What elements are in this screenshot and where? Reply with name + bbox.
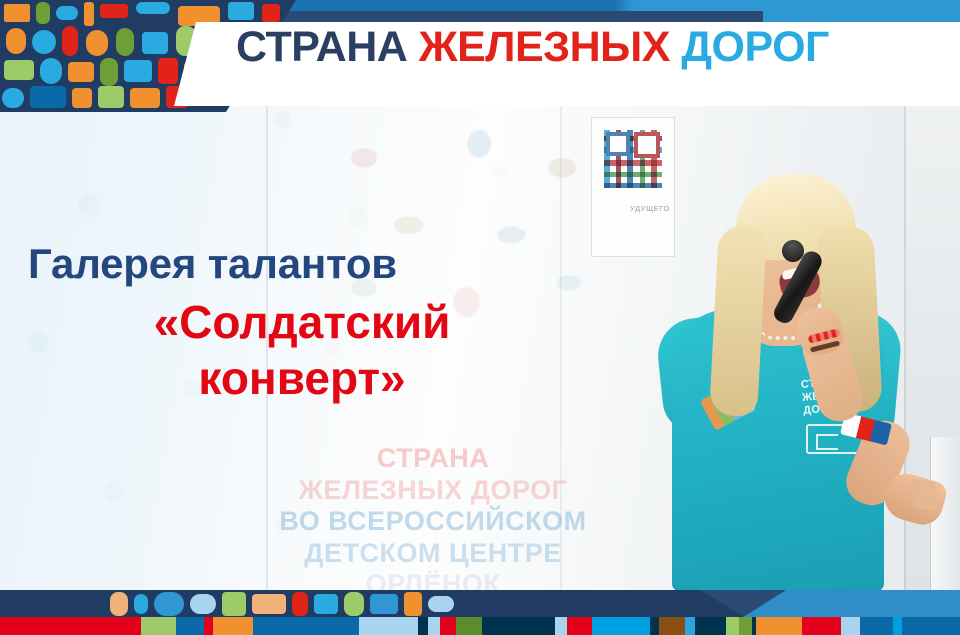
color-bar-segment bbox=[841, 617, 859, 635]
mosaic-icon-tile bbox=[262, 4, 280, 22]
mosaic-icon-tile bbox=[40, 58, 62, 84]
mosaic-icon-tile bbox=[30, 86, 66, 108]
color-bar-segment bbox=[659, 617, 685, 635]
mosaic-icon-tile bbox=[100, 58, 118, 86]
mosaic-icon-tile bbox=[86, 30, 108, 56]
color-bar-segment bbox=[860, 617, 893, 635]
mosaic-icon-tile bbox=[252, 594, 286, 614]
headline-block: Галерея талантов «Солдатский конверт» bbox=[28, 242, 576, 406]
mosaic-icon-tile bbox=[428, 596, 454, 612]
color-bar-segment bbox=[0, 617, 141, 635]
brand-logo-part-3: ДОРОГ bbox=[681, 23, 829, 71]
headline-line-2: «Солдатский bbox=[28, 294, 576, 350]
brand-logo: СТРАНА ЖЕЛЕЗНЫХ ДОРОГ bbox=[236, 26, 829, 69]
mosaic-icon-tile bbox=[4, 60, 34, 80]
mosaic-icon-tile bbox=[344, 592, 364, 616]
mosaic-icon-tile bbox=[6, 28, 26, 54]
color-bar-segment bbox=[802, 617, 842, 635]
color-bar-segment bbox=[141, 617, 176, 635]
mosaic-icon-tile bbox=[134, 594, 148, 614]
color-bar-segment bbox=[440, 617, 457, 635]
color-bar-segment bbox=[253, 617, 360, 635]
color-bar-segment bbox=[456, 617, 482, 635]
mosaic-icon-tile bbox=[62, 26, 78, 56]
bottom-color-bar bbox=[0, 617, 960, 635]
mosaic-icon-tile bbox=[72, 88, 92, 108]
color-bar-segment bbox=[756, 617, 802, 635]
mosaic-icon-tile bbox=[370, 594, 398, 614]
color-bar-segment bbox=[482, 617, 555, 635]
mosaic-icon-tile bbox=[142, 32, 168, 54]
mosaic-icon-tile bbox=[110, 592, 128, 616]
brand-logo-part-1: СТРАНА bbox=[236, 23, 419, 71]
performer-hair-strand bbox=[709, 225, 767, 417]
mosaic-icon-tile bbox=[158, 58, 178, 84]
headline-line-3: конверт» bbox=[28, 350, 576, 406]
color-bar-segment bbox=[902, 617, 960, 635]
mosaic-icon-tile bbox=[292, 592, 308, 616]
wall-printed-banner: СТРАНА ЖЕЛЕЗНЫХ ДОРОГ ВО ВСЕРОССИЙСКОМ Д… bbox=[268, 443, 598, 601]
performer-photo: СТРАНУ ЖЕЛЕЗНЫХ ДОРОГ bbox=[610, 130, 960, 592]
mosaic-icon-tile bbox=[116, 28, 134, 56]
color-bar-segment bbox=[176, 617, 203, 635]
color-bar-segment bbox=[726, 617, 740, 635]
mosaic-icon-tile bbox=[130, 88, 160, 108]
mosaic-icon-tile bbox=[404, 592, 422, 616]
color-bar-segment bbox=[685, 617, 696, 635]
mosaic-icon-tile bbox=[154, 592, 184, 616]
performer-finger bbox=[912, 500, 938, 510]
mosaic-icon-tile bbox=[100, 4, 128, 18]
color-bar-segment bbox=[695, 617, 725, 635]
mosaic-icon-tile bbox=[84, 2, 94, 26]
mosaic-icon-tile bbox=[2, 88, 24, 108]
brand-logo-part-2: ЖЕЛЕЗНЫХ bbox=[419, 23, 682, 71]
color-bar-segment bbox=[359, 617, 418, 635]
wall-banner-line-2: ЖЕЛЕЗНЫХ ДОРОГ bbox=[268, 475, 598, 507]
mosaic-icon-tile bbox=[124, 60, 152, 82]
mosaic-icon-tile bbox=[190, 594, 216, 614]
color-bar-segment bbox=[567, 617, 591, 635]
color-bar-segment bbox=[592, 617, 650, 635]
mosaic-icon-tile bbox=[4, 4, 30, 22]
color-bar-segment bbox=[555, 617, 567, 635]
color-bar-segment bbox=[893, 617, 902, 635]
color-bar-segment bbox=[204, 617, 213, 635]
mosaic-icon-tile bbox=[136, 2, 170, 14]
mosaic-icon-tile bbox=[68, 62, 94, 82]
mosaic-icon-tile bbox=[56, 6, 78, 20]
mosaic-icon-tile bbox=[32, 30, 56, 54]
color-bar-segment bbox=[428, 617, 440, 635]
mosaic-icon-tile bbox=[36, 2, 50, 24]
wall-banner-line-3: ВО ВСЕРОССИЙСКОМ bbox=[268, 506, 598, 538]
mosaic-icon-tile bbox=[228, 2, 254, 20]
wall-banner-line-1: СТРАНА bbox=[268, 443, 598, 475]
color-bar-segment bbox=[213, 617, 253, 635]
color-bar-segment bbox=[739, 617, 751, 635]
color-bar-segment bbox=[418, 617, 427, 635]
color-bar-segment bbox=[650, 617, 659, 635]
mosaic-icon-tile bbox=[314, 594, 338, 614]
headline-line-1: Галерея талантов bbox=[28, 242, 576, 286]
mosaic-icon-tile bbox=[98, 86, 124, 108]
wall-banner-line-4: ДЕТСКОМ ЦЕНТРЕ bbox=[268, 538, 598, 570]
promo-banner-stage: СТРАНА ЖЕЛЕЗНЫХ ДОРОГ ВО ВСЕРОССИЙСКОМ Д… bbox=[0, 0, 960, 635]
mosaic-icon-tile bbox=[222, 592, 246, 616]
